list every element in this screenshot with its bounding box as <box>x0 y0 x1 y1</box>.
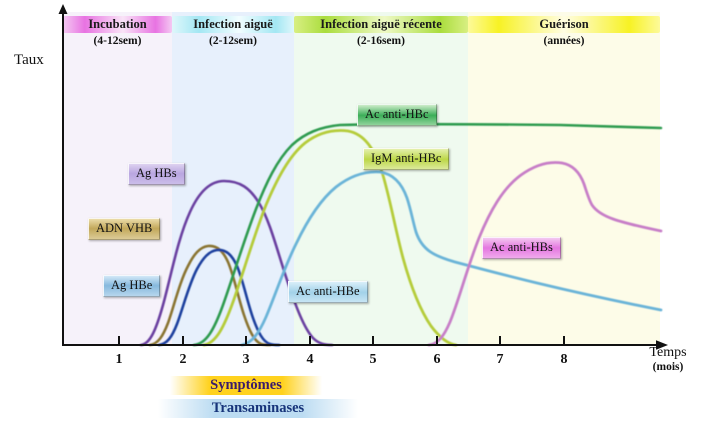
x-axis <box>62 344 660 346</box>
x-tick-2: 2 <box>171 352 195 368</box>
x-tick-4: 4 <box>298 352 322 368</box>
label-ag-hbe: Ag HBe <box>103 275 160 297</box>
x-axis-unit: (mois) <box>632 361 704 373</box>
banner-transaminases: Transaminases <box>158 399 358 418</box>
x-tick-7: 7 <box>488 352 512 368</box>
x-tick-6: 6 <box>425 352 449 368</box>
x-axis-label-text: Temps <box>649 345 686 360</box>
label-ag-hbs: Ag HBs <box>128 163 185 185</box>
label-ac-anti-hbs: Ac anti-HBs <box>482 237 561 259</box>
label-adn-vhb: ADN VHB <box>88 218 160 240</box>
hbv-serology-chart: Incubation (4-12sem) Infection aiguë (2-… <box>0 0 710 422</box>
x-tick-3: 3 <box>234 352 258 368</box>
banner-symptomes: Symptômes <box>170 376 322 395</box>
x-axis-label: Temps (mois) <box>632 345 704 373</box>
label-ac-anti-hbc: Ac anti-HBc <box>357 104 437 126</box>
label-ac-anti-hbe: Ac anti-HBe <box>288 281 368 303</box>
curve-adn-vhb <box>150 246 270 345</box>
label-igm-anti-hbc: IgM anti-HBc <box>363 148 449 170</box>
x-tick-5: 5 <box>361 352 385 368</box>
x-tick-8: 8 <box>552 352 576 368</box>
x-tick-1: 1 <box>107 352 131 368</box>
banner-symptomes-text: Symptômes <box>210 377 282 393</box>
banner-transaminases-text: Transaminases <box>212 400 304 416</box>
y-axis <box>62 10 64 346</box>
y-axis-label: Taux <box>14 52 44 69</box>
